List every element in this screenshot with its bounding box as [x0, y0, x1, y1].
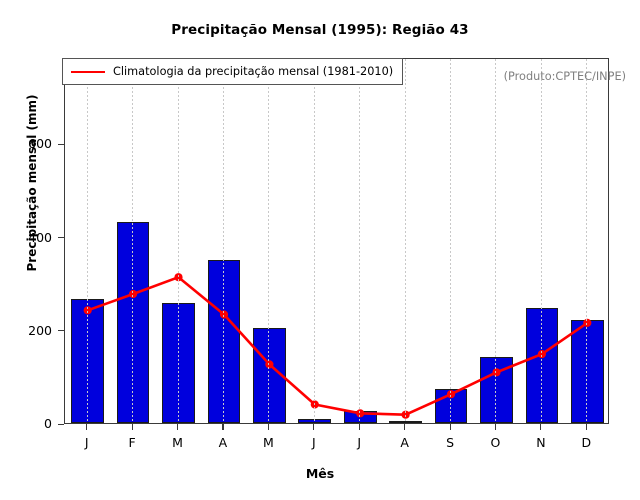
x-tick-mark-3 — [222, 424, 223, 430]
gridline-2 — [178, 59, 179, 423]
x-axis-title: Mês — [0, 466, 640, 481]
x-tick-mark-7 — [404, 424, 405, 430]
climatology-marker-3 — [220, 310, 228, 318]
climatology-marker-4 — [265, 360, 273, 368]
y-tick-mark-0 — [58, 424, 64, 425]
climatology-marker-11 — [583, 319, 591, 327]
x-tick-label-7: A — [385, 435, 425, 450]
x-tick-mark-8 — [450, 424, 451, 430]
y-tick-mark-400 — [58, 237, 64, 238]
x-tick-label-1: F — [112, 435, 152, 450]
gridline-0 — [87, 59, 88, 423]
gridline-10 — [541, 59, 542, 423]
x-tick-mark-2 — [177, 424, 178, 430]
gridline-4 — [268, 59, 269, 423]
climatology-line-layer — [65, 59, 608, 423]
y-tick-mark-200 — [58, 330, 64, 331]
climatology-polyline — [88, 277, 588, 415]
climatology-marker-10 — [538, 350, 546, 358]
plot-area — [64, 58, 609, 424]
gridline-9 — [495, 59, 496, 423]
x-tick-label-10: N — [521, 435, 561, 450]
x-tick-mark-11 — [586, 424, 587, 430]
x-tick-label-2: M — [158, 435, 198, 450]
x-tick-label-0: J — [67, 435, 107, 450]
x-tick-label-9: O — [475, 435, 515, 450]
gridline-6 — [359, 59, 360, 423]
x-tick-mark-10 — [540, 424, 541, 430]
x-tick-mark-9 — [495, 424, 496, 430]
climatology-line — [65, 59, 610, 425]
x-tick-label-11: D — [566, 435, 606, 450]
producer-annotation: (Produto:CPTEC/INPE) — [504, 70, 626, 83]
gridline-7 — [405, 59, 406, 423]
x-tick-label-3: A — [203, 435, 243, 450]
legend-label-climatology: Climatologia da precipitação mensal (198… — [113, 65, 393, 78]
climatology-marker-9 — [492, 368, 500, 376]
chart-figure: Precipitação Mensal (1995): Região 43 02… — [0, 0, 640, 500]
x-tick-mark-5 — [313, 424, 314, 430]
climatology-marker-5 — [311, 400, 319, 408]
gridline-3 — [223, 59, 224, 423]
legend: Climatologia da precipitação mensal (198… — [62, 58, 403, 85]
y-tick-mark-600 — [58, 144, 64, 145]
x-tick-mark-4 — [268, 424, 269, 430]
x-tick-label-8: S — [430, 435, 470, 450]
legend-line-swatch — [71, 71, 105, 73]
x-tick-label-5: J — [294, 435, 334, 450]
gridline-5 — [314, 59, 315, 423]
y-axis-title: Precipitação mensal (mm) — [25, 33, 39, 333]
x-tick-mark-6 — [359, 424, 360, 430]
gridline-8 — [450, 59, 451, 423]
gridline-11 — [586, 59, 587, 423]
gridline-1 — [132, 59, 133, 423]
x-tick-mark-1 — [132, 424, 133, 430]
x-tick-label-4: M — [248, 435, 288, 450]
x-tick-label-6: J — [339, 435, 379, 450]
x-tick-mark-0 — [86, 424, 87, 430]
y-tick-label-0: 0 — [8, 416, 52, 431]
chart-title: Precipitação Mensal (1995): Região 43 — [0, 22, 640, 38]
